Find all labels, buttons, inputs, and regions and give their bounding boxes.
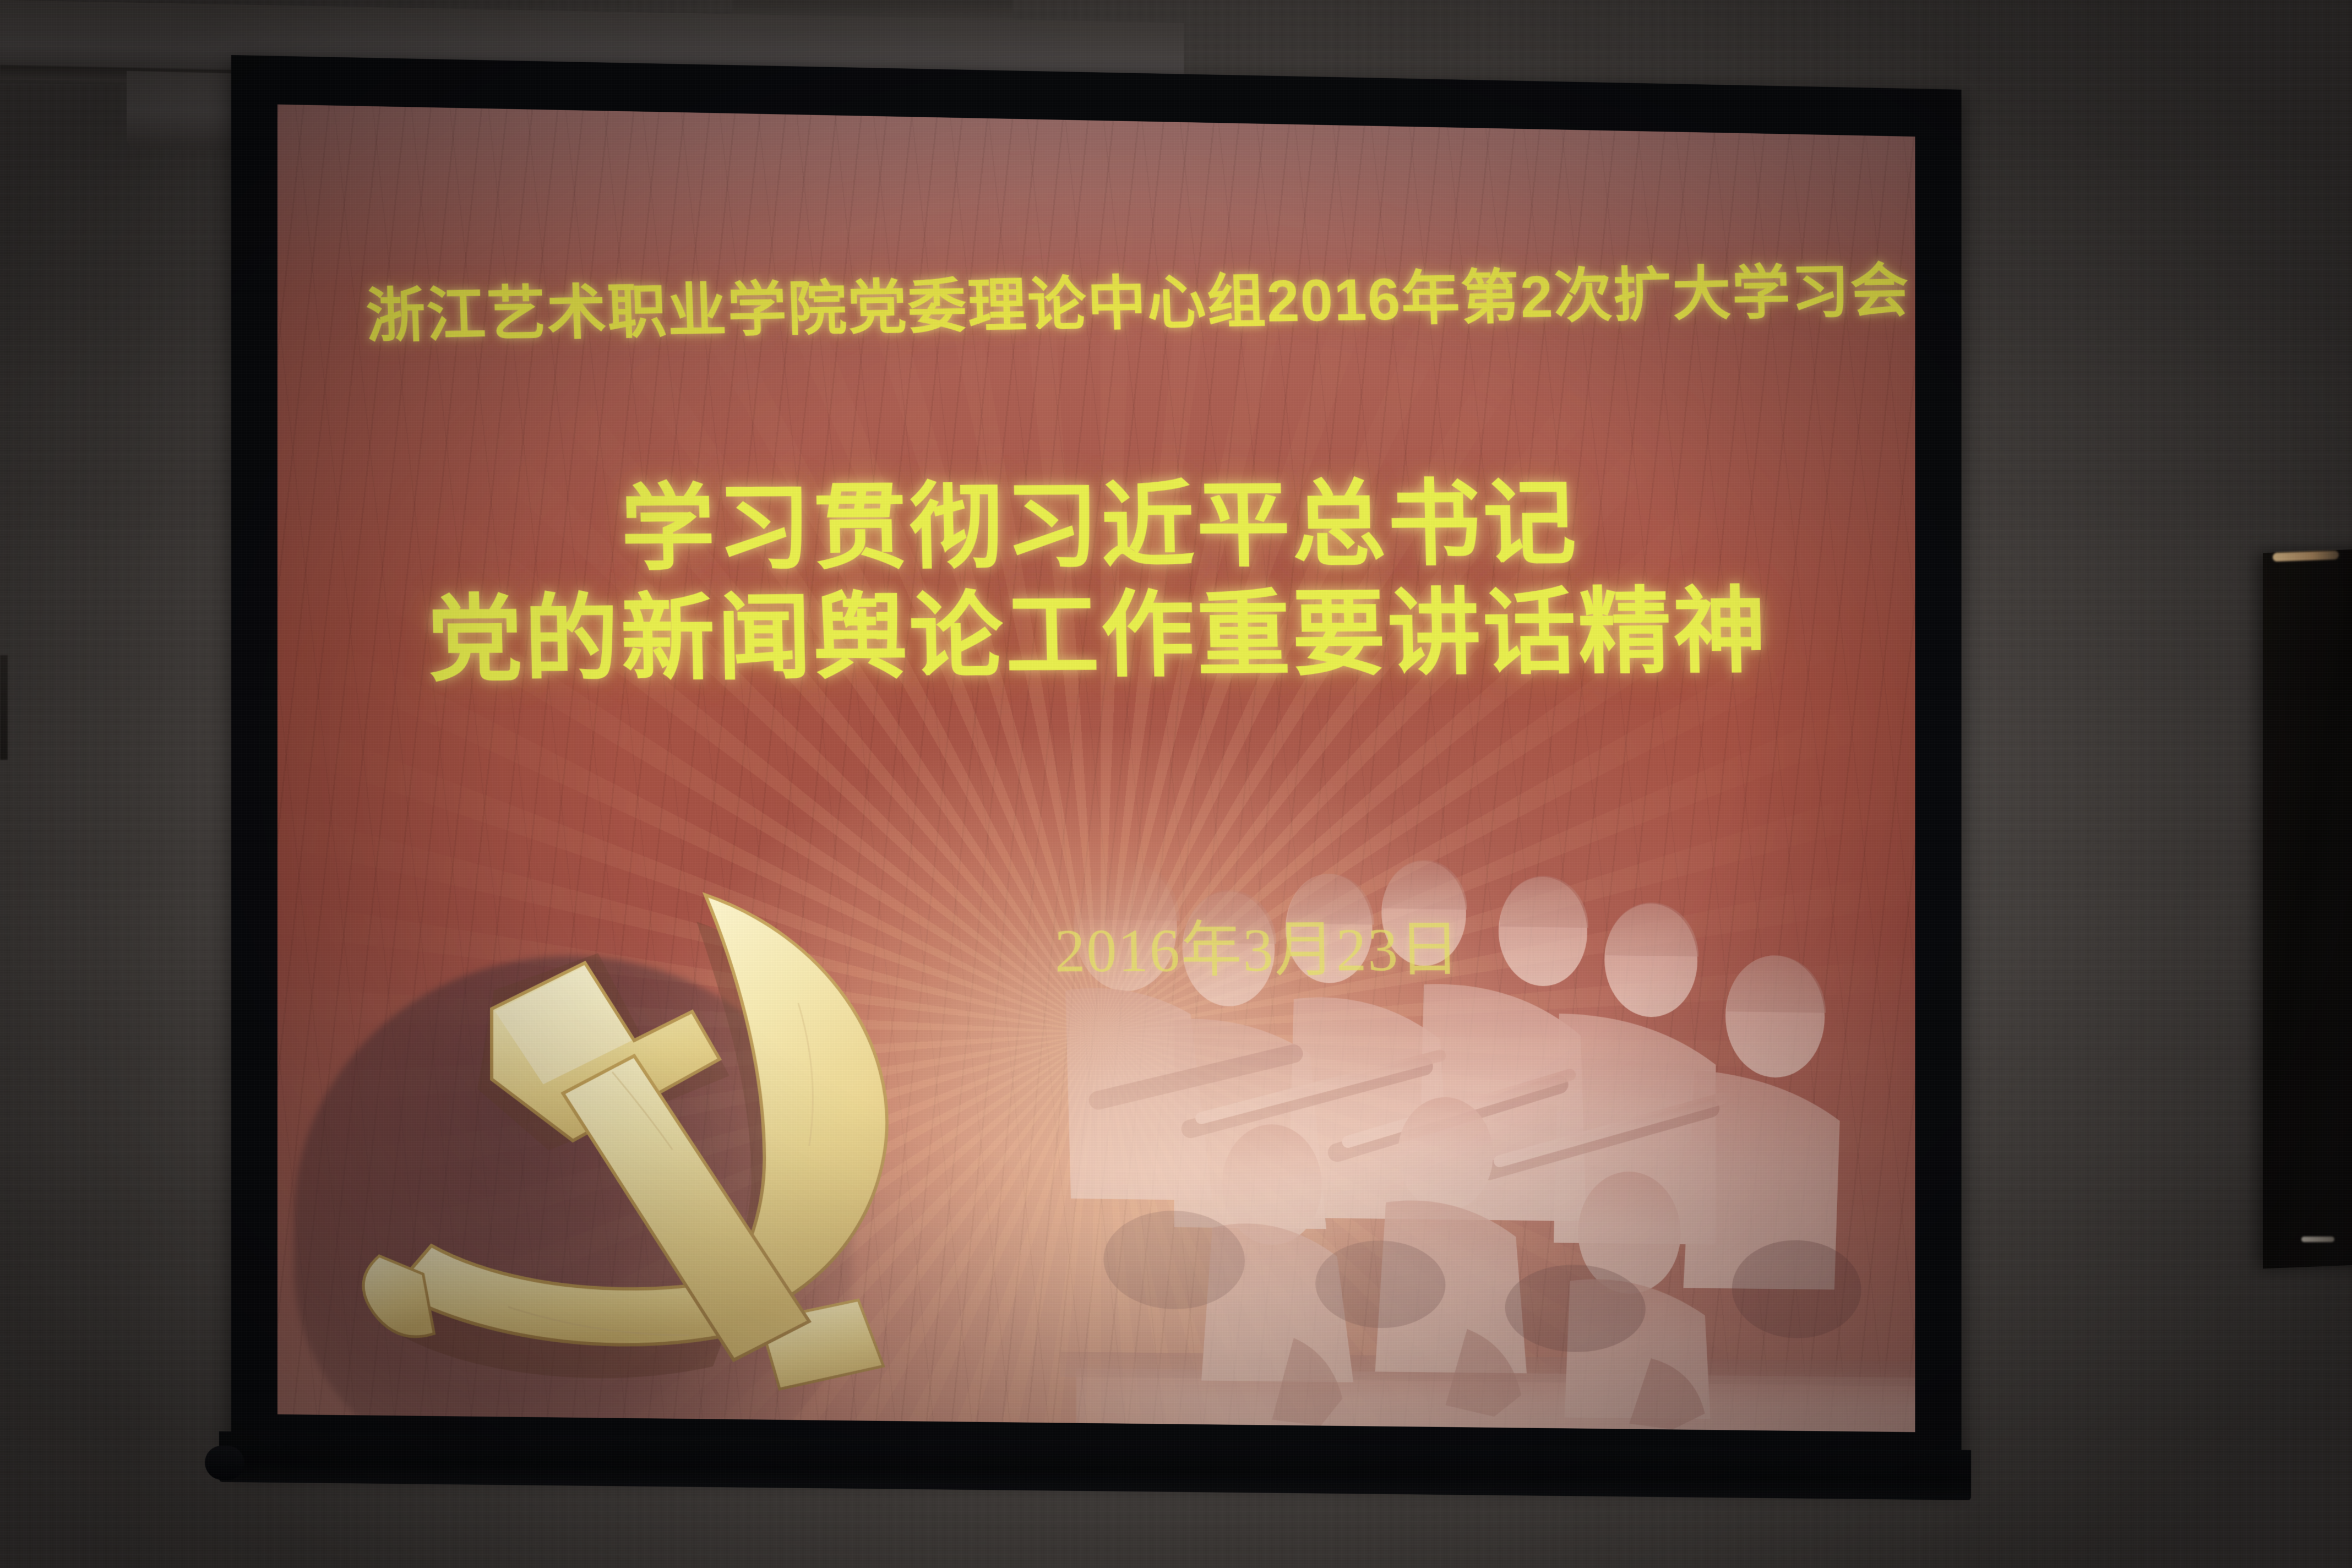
slide-title-line-2: 党的新闻舆论工作重要讲话精神 — [277, 553, 1915, 701]
screenshot-stage: 浙江艺术职业学院党委理论中心组2016年第2次扩大学习会 学习贯彻习近平总书记 … — [0, 0, 2352, 1568]
wall-edge-strip — [0, 655, 8, 760]
projection-screen[interactable]: 浙江艺术职业学院党委理论中心组2016年第2次扩大学习会 学习贯彻习近平总书记 … — [231, 39, 1967, 1548]
screen-roller-end-cap[interactable] — [205, 1445, 244, 1480]
panel-bottom-glint — [2301, 1237, 2334, 1242]
slide-date: 2016年3月23日 — [1054, 900, 1461, 989]
slide-header: 浙江艺术职业学院党委理论中心组2016年第2次扩大学习会 — [364, 244, 1836, 355]
slide-text-layer: 浙江艺术职业学院党委理论中心组2016年第2次扩大学习会 学习贯彻习近平总书记 … — [277, 105, 1915, 1433]
projected-slide: 浙江艺术职业学院党委理论中心组2016年第2次扩大学习会 学习贯彻习近平总书记 … — [277, 105, 1915, 1433]
wall-mounted-dark-panel[interactable] — [2263, 548, 2352, 1268]
